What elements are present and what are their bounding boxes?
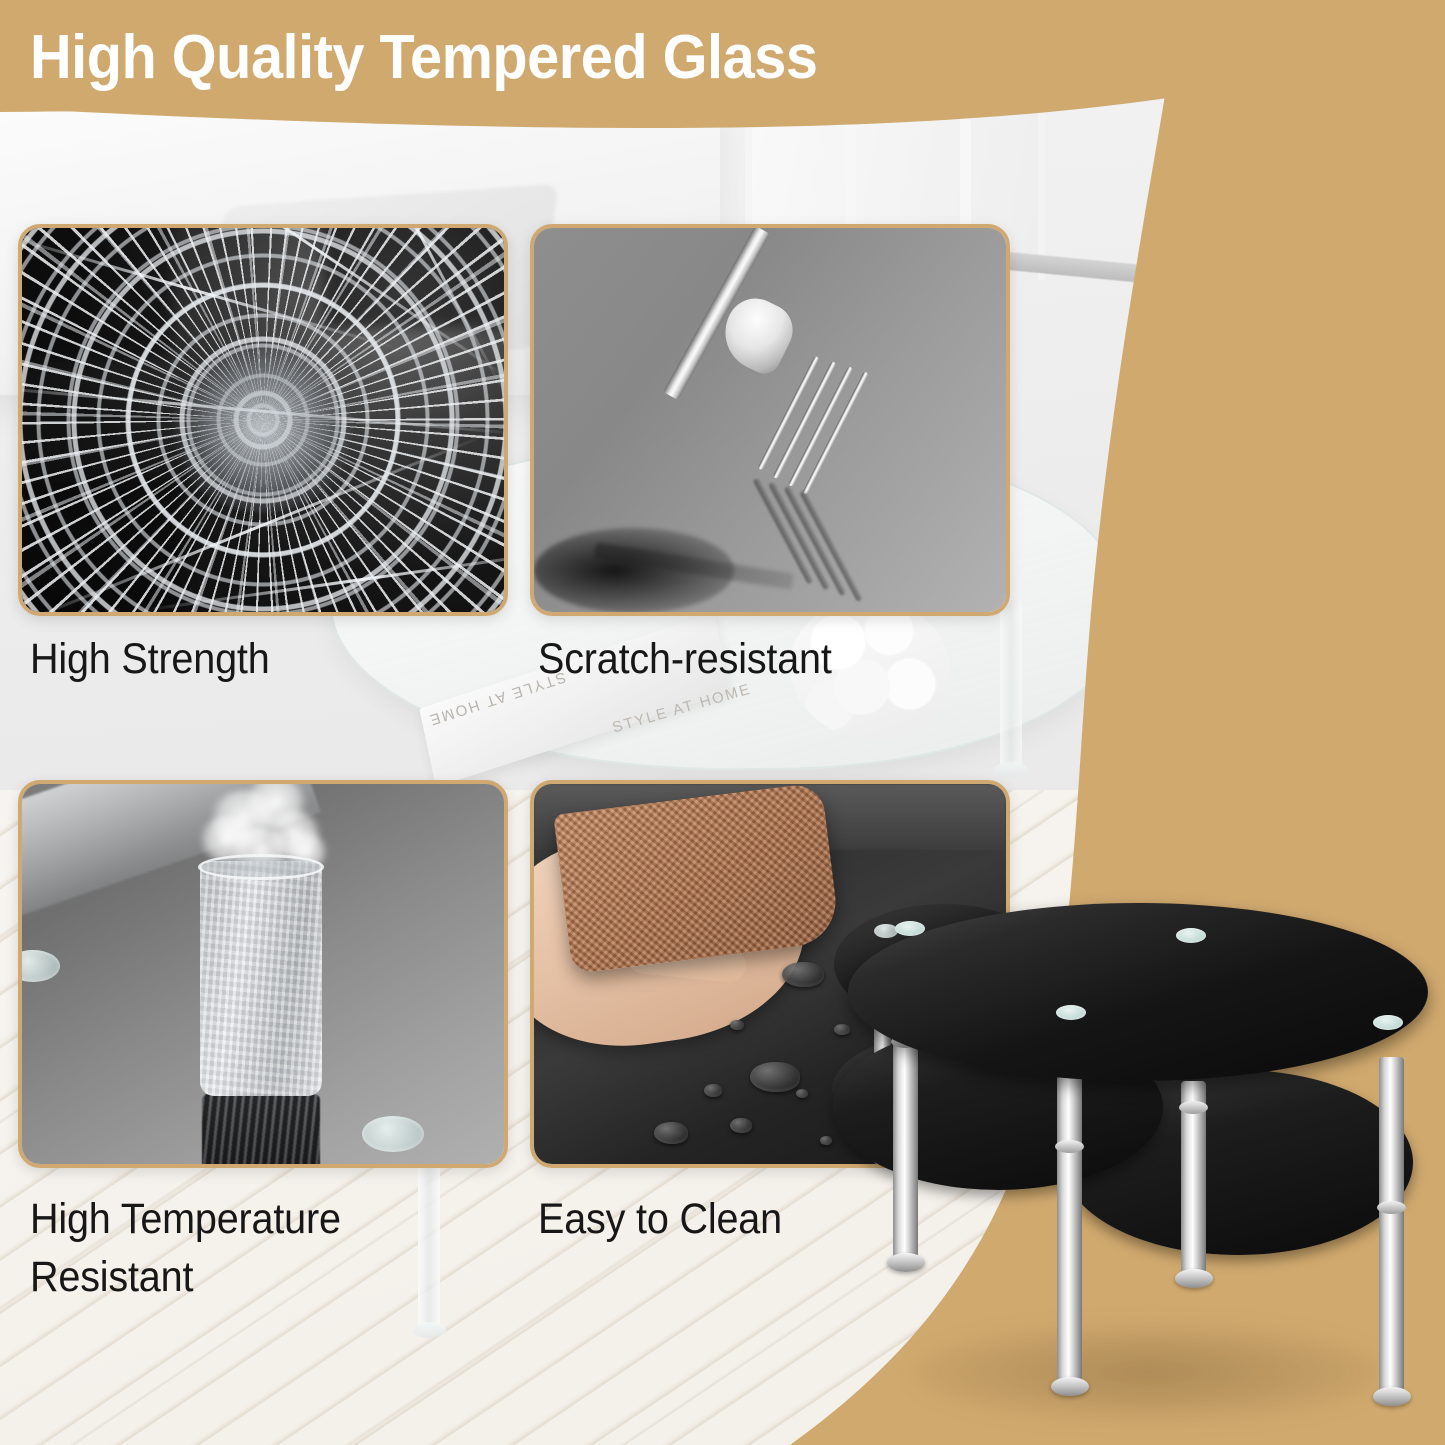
tabletop-fitting-disc bbox=[1176, 928, 1206, 943]
glass-fitting-disc bbox=[362, 1116, 424, 1152]
feature-panel-scratch-resistant bbox=[530, 224, 1010, 616]
tabletop-fitting-disc bbox=[1056, 1005, 1086, 1020]
tabletop-fitting-disc bbox=[895, 921, 925, 936]
fork-on-glass-image bbox=[534, 228, 1006, 612]
tabletop bbox=[848, 903, 1428, 1081]
table-foot bbox=[1051, 1377, 1089, 1396]
leg-collar bbox=[1179, 1101, 1208, 1114]
feature-label-scratch-resistant: Scratch-resistant bbox=[538, 630, 832, 688]
feature-label-easy-to-clean: Easy to Clean bbox=[538, 1190, 782, 1248]
steaming-glass-image bbox=[22, 784, 504, 1164]
table-foot bbox=[1373, 1387, 1411, 1406]
cracked-glass-image bbox=[22, 228, 504, 612]
page-title: High Quality Tempered Glass bbox=[30, 22, 817, 93]
microfiber-cloth bbox=[553, 784, 840, 974]
feature-label-high-temperature-resistant: High Temperature Resistant bbox=[30, 1190, 341, 1306]
product-coffee-table bbox=[845, 885, 1445, 1445]
table-leg-front-left bbox=[1057, 1047, 1082, 1387]
feature-panel-high-temperature-resistant bbox=[18, 780, 508, 1168]
leg-collar bbox=[1377, 1201, 1406, 1214]
table-foot bbox=[1175, 1269, 1213, 1288]
table-foot bbox=[887, 1253, 925, 1272]
feature-panel-high-strength bbox=[18, 224, 508, 616]
tabletop-fitting-disc bbox=[1373, 1015, 1403, 1030]
poster-canvas: STYLE AT HOME STYLE AT HOME High Quality… bbox=[0, 0, 1445, 1445]
feature-label-high-strength: High Strength bbox=[30, 630, 270, 688]
leg-collar bbox=[1055, 1140, 1084, 1153]
product-shadow bbox=[915, 1325, 1385, 1420]
table-leg-front-right bbox=[1379, 1057, 1404, 1397]
